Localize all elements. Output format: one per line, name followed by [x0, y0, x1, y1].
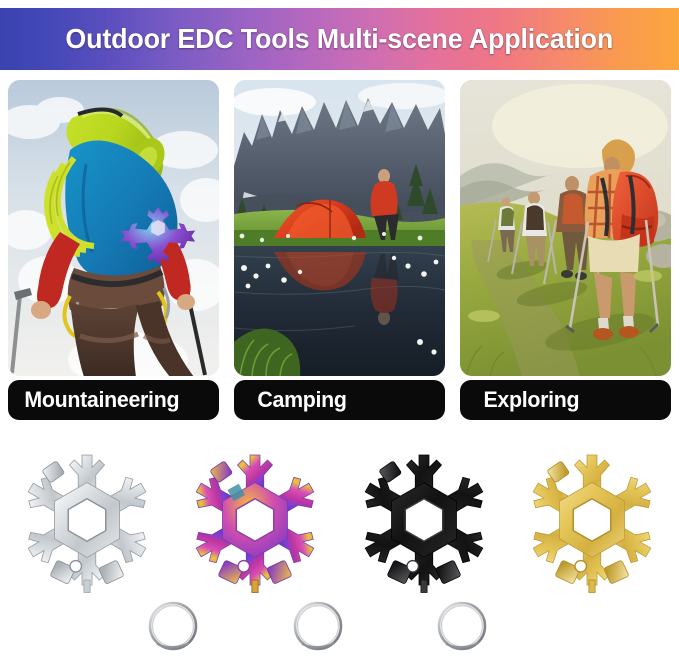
photo-camping — [234, 80, 445, 376]
product-tool-rainbow — [174, 440, 336, 600]
scene-panel-camping: Camping — [234, 80, 445, 420]
header-banner: Outdoor EDC Tools Multi-scene Applicatio… — [0, 8, 679, 70]
key-ring-3 — [434, 598, 490, 654]
photo-exploring — [460, 80, 671, 376]
panel-caption-camping: Camping — [234, 380, 445, 420]
panel-caption-mountaineering: Mountaineering — [8, 380, 219, 420]
product-tool-black — [343, 440, 505, 600]
caption-label: Exploring — [483, 387, 579, 413]
product-tool-stainless — [6, 440, 168, 600]
key-ring-2 — [290, 598, 346, 654]
scene-panel-exploring: Exploring — [460, 80, 671, 420]
page-title: Outdoor EDC Tools Multi-scene Applicatio… — [66, 23, 614, 55]
caption-label: Camping — [257, 387, 346, 413]
caption-label: Mountaineering — [24, 387, 179, 413]
key-ring-1 — [145, 598, 201, 654]
key-rings-row — [0, 596, 679, 660]
scene-panel-mountaineering: Mountaineering — [8, 80, 219, 420]
product-tool-gold — [511, 440, 673, 600]
product-variants-row — [0, 440, 679, 600]
scene-panels: Mountaineering — [0, 80, 679, 420]
product-infographic: Outdoor EDC Tools Multi-scene Applicatio… — [0, 0, 679, 664]
panel-caption-exploring: Exploring — [460, 380, 671, 420]
photo-mountaineering — [8, 80, 219, 376]
